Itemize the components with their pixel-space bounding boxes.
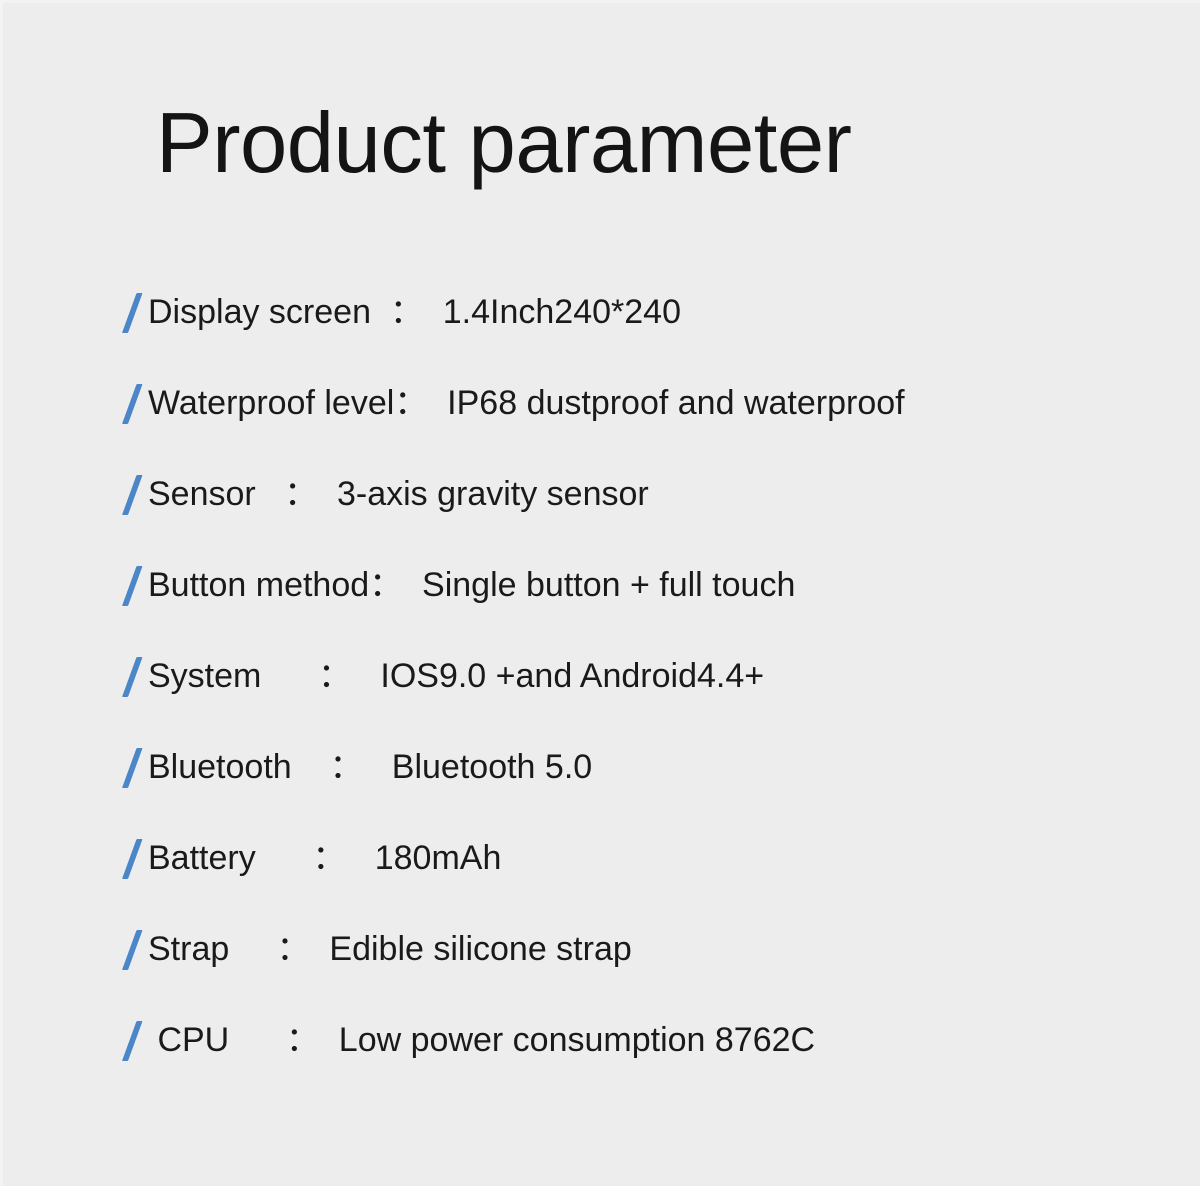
slash-icon (110, 746, 140, 788)
product-parameter-page: Product parameter Display screen ： 1.4In… (0, 0, 1200, 1200)
spec-row-text: CPU ： Low power consumption 8762C (148, 1019, 815, 1061)
spec-row-text: Bluetooth ： Bluetooth 5.0 (148, 746, 592, 788)
spec-row-text: Strap ： Edible silicone strap (148, 928, 632, 970)
spec-row-text: Battery ： 180mAh (148, 837, 501, 879)
slash-icon (110, 837, 140, 879)
spec-row-cpu: CPU ： Low power consumption 8762C (0, 994, 1200, 1085)
spec-row-text: Waterproof level： IP68 dustproof and wat… (148, 382, 905, 424)
slash-icon (110, 473, 140, 515)
page-title: Product parameter (156, 96, 851, 192)
slash-icon (110, 655, 140, 697)
slash-icon (110, 564, 140, 606)
spec-row-bluetooth: Bluetooth ： Bluetooth 5.0 (0, 721, 1200, 812)
spec-row-text: Button method： Single button + full touc… (148, 564, 795, 606)
slash-icon (110, 928, 140, 970)
slash-icon (110, 291, 140, 333)
spec-row-display-screen: Display screen ： 1.4Inch240*240 (0, 266, 1200, 357)
spec-row-text: Display screen ： 1.4Inch240*240 (148, 291, 681, 333)
slash-icon (110, 1019, 140, 1061)
spec-row-text: System ： IOS9.0 +and Android4.4+ (148, 655, 764, 697)
spec-list: Display screen ： 1.4Inch240*240 Waterpro… (0, 266, 1200, 1085)
spec-row-text: Sensor ： 3-axis gravity sensor (148, 473, 649, 515)
spec-row-system: System ： IOS9.0 +and Android4.4+ (0, 630, 1200, 721)
spec-row-button-method: Button method： Single button + full touc… (0, 539, 1200, 630)
spec-row-waterproof-level: Waterproof level： IP68 dustproof and wat… (0, 357, 1200, 448)
spec-row-sensor: Sensor ： 3-axis gravity sensor (0, 448, 1200, 539)
spec-row-strap: Strap ： Edible silicone strap (0, 903, 1200, 994)
slash-icon (110, 382, 140, 424)
panel-top-edge (0, 0, 1200, 3)
spec-row-battery: Battery ： 180mAh (0, 812, 1200, 903)
